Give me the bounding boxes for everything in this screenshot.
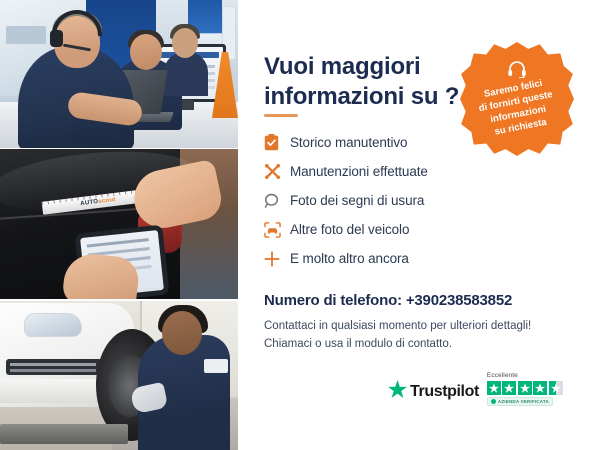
verified-check-icon: [491, 399, 496, 404]
star-rating: [487, 381, 563, 395]
list-item: E molto altro ancora: [264, 244, 564, 273]
vehicle-inspection-ruler-photo: AUTOscout: [0, 149, 238, 299]
mechanic-head: [162, 311, 202, 355]
trustpilot-logo: Trustpilot: [388, 380, 479, 406]
heading-line-1: Vuoi maggiori: [264, 53, 421, 80]
contact-instructions: Contattaci in qualsiasi momento per ulte…: [264, 318, 574, 354]
vehicle-lift-arm: [0, 424, 128, 444]
call-center-agents-photo: [0, 0, 238, 148]
car-grille: [6, 359, 102, 375]
page-title: Vuoi maggiori informazioni su ?: [264, 52, 479, 112]
phone-label: Numero di telefono:: [264, 292, 402, 309]
star-icon: [502, 381, 516, 395]
monitor-stand: [180, 100, 194, 110]
clipboard-check-icon: [264, 134, 290, 151]
trustpilot-widget[interactable]: Trustpilot Eccellente: [388, 372, 563, 406]
agent-third-head: [172, 28, 198, 58]
content-panel: Vuoi maggiori informazioni su ? Saremo f…: [238, 0, 600, 450]
star-icon: [533, 381, 547, 395]
star-icon: [487, 381, 501, 395]
magnifier-icon: [264, 193, 290, 209]
list-item-label: Foto dei segni di usura: [290, 193, 424, 208]
list-item: Storico manutentivo: [264, 128, 564, 157]
tools-cross-icon: [264, 163, 290, 180]
rating-label: Eccellente: [487, 372, 563, 379]
list-item-label: E molto altro ancora: [290, 251, 409, 266]
agent-second-head: [130, 34, 162, 70]
ruler-brand-label: AUTOscout: [80, 196, 116, 206]
trustpilot-star-icon: [388, 380, 407, 403]
feature-list: Storico manutentivo Manutenzioni effettu…: [264, 128, 564, 273]
heading-line-2: informazioni su ?: [264, 83, 459, 110]
plus-icon: [264, 251, 290, 267]
trustpilot-wordmark: Trustpilot: [410, 383, 479, 401]
list-item-label: Storico manutentivo: [290, 135, 407, 150]
half-star-icon: [549, 381, 563, 395]
list-item: Altre foto del veicolo: [264, 215, 564, 244]
agent-third-body: [164, 52, 208, 96]
verified-badge: AZIENDA VERIFICATA: [487, 397, 553, 406]
car-scan-icon: [264, 222, 290, 238]
photo-strip: AUTOscout: [0, 0, 238, 450]
list-item-label: Altre foto del veicolo: [290, 222, 409, 237]
car-headlight: [24, 313, 82, 337]
mechanic-uniform-patch: [204, 359, 228, 373]
wheel-inspection-photo: [0, 301, 238, 450]
verified-badge-label: AZIENDA VERIFICATA: [498, 399, 549, 404]
list-item-label: Manutenzioni effettuate: [290, 164, 428, 179]
list-item: Foto dei segni di usura: [264, 186, 564, 215]
headset-earcup: [50, 30, 63, 47]
list-item: Manutenzioni effettuate: [264, 157, 564, 186]
promo-banner: AUTOscout: [0, 0, 600, 450]
star-icon: [518, 381, 532, 395]
title-divider: [264, 114, 298, 117]
contact-line-2: Chiamaci o usa il modulo di contatto.: [264, 338, 452, 350]
contact-line-1: Contattaci in qualsiasi momento per ulte…: [264, 320, 531, 332]
phone-number-line: Numero di telefono: +390238583852: [264, 292, 512, 309]
phone-number[interactable]: +390238583852: [406, 292, 512, 309]
trustpilot-rating: Eccellente: [487, 372, 563, 406]
